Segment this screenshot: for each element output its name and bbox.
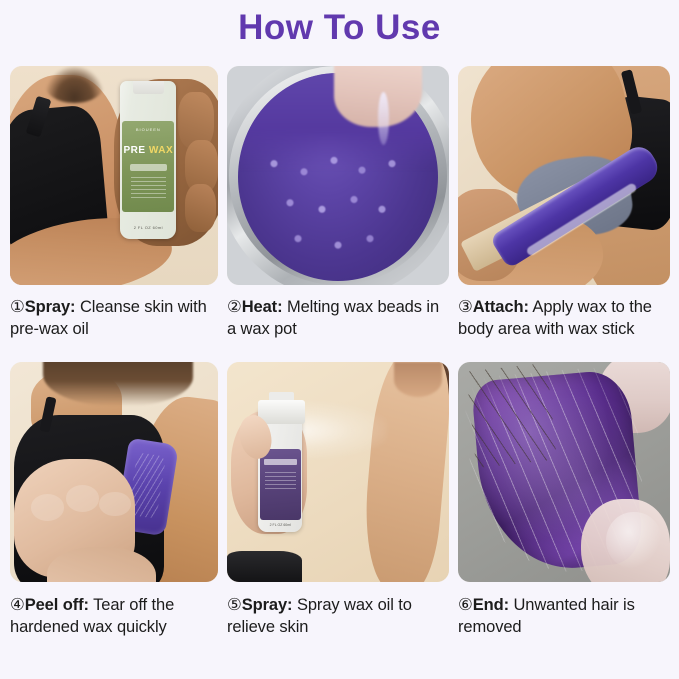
step-number-1: ①: [10, 298, 25, 316]
step-caption-5: ⑤Spray: Spray wax oil to relieve skin: [227, 594, 449, 638]
photo-spray-pre-wax-oil: BIOUEEN PRE WAX 2 FL OZ 60ml: [10, 66, 218, 285]
step-number-4: ④: [10, 596, 25, 614]
step-lead-2: Heat:: [242, 298, 283, 316]
step-number-6: ⑥: [458, 596, 473, 614]
steps-grid: BIOUEEN PRE WAX 2 FL OZ 60ml ①Spray: Cle…: [10, 66, 669, 638]
bottle-volume: 2 FL OZ 60ml: [120, 225, 176, 230]
step-lead-1: Spray:: [25, 298, 76, 316]
step-lead-5: Spray:: [242, 596, 293, 614]
step-card-2: ②Heat: Melting wax beads in a wax pot: [227, 66, 449, 340]
after-wax-bottle-volume: 2 FL OZ 60ml: [258, 523, 302, 527]
photo-spray-after-wax-oil: 2 FL OZ 60ml: [227, 362, 449, 582]
photo-peel-off-hardened-wax: [10, 362, 218, 582]
photo-removed-wax-with-hair: [458, 362, 670, 582]
step-caption-4: ④Peel off: Tear off the hardened wax qui…: [10, 594, 218, 638]
bottle-brand: BIOUEEN: [122, 127, 174, 132]
step-number-5: ⑤: [227, 596, 242, 614]
bottle-name-part1: PRE: [124, 145, 146, 156]
step-number-3: ③: [458, 298, 473, 316]
step-caption-6: ⑥End: Unwanted hair is removed: [458, 594, 670, 638]
bottle-name-part2: WAX: [149, 145, 173, 156]
photo-apply-wax-with-stick: [458, 66, 670, 285]
step-caption-1: ①Spray: Cleanse skin with pre-wax oil: [10, 296, 218, 340]
step-card-4: ④Peel off: Tear off the hardened wax qui…: [10, 362, 218, 638]
step-card-6: ⑥End: Unwanted hair is removed: [458, 362, 670, 638]
step-lead-6: End:: [473, 596, 509, 614]
photo-melting-wax-beads: [227, 66, 449, 285]
page-title: How To Use: [0, 8, 679, 48]
pre-wax-bottle: BIOUEEN PRE WAX 2 FL OZ 60ml: [120, 81, 176, 239]
step-number-2: ②: [227, 298, 242, 316]
step-card-5: 2 FL OZ 60ml ⑤Spray: Spray wax oil to re…: [227, 362, 449, 638]
step-lead-3: Attach:: [473, 298, 529, 316]
step-lead-4: Peel off:: [25, 596, 89, 614]
how-to-use-infographic: How To Use: [0, 0, 679, 679]
step-card-3: ③Attach: Apply wax to the body area with…: [458, 66, 670, 340]
step-caption-3: ③Attach: Apply wax to the body area with…: [458, 296, 670, 340]
step-card-1: BIOUEEN PRE WAX 2 FL OZ 60ml ①Spray: Cle…: [10, 66, 218, 340]
step-caption-2: ②Heat: Melting wax beads in a wax pot: [227, 296, 449, 340]
